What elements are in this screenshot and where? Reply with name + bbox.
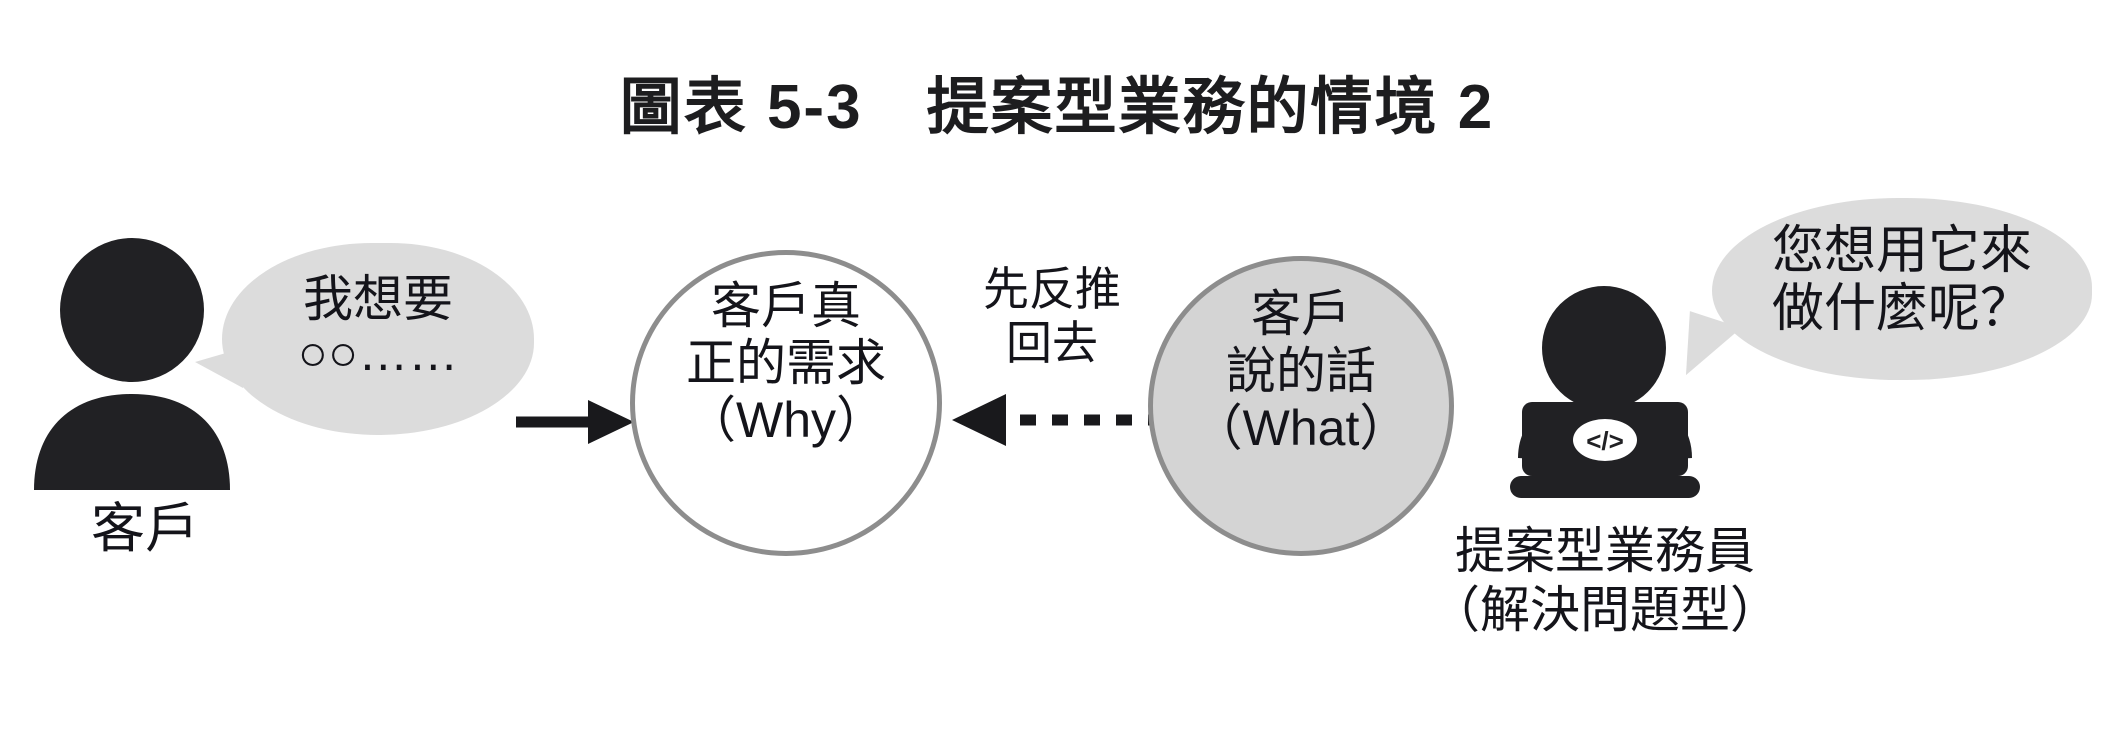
node-why-label: 客戶真 正的需求 （Why）: [630, 278, 942, 449]
diagram-canvas: 圖表 5-3 提案型業務的情境 2 客戶 我想要 ○○…… 客戶真 正的需求 （…: [0, 0, 2114, 752]
node-what-label: 客戶 說的話 （What）: [1148, 286, 1454, 457]
page-title: 圖表 5-3 提案型業務的情境 2: [0, 56, 2114, 146]
salesperson-figure: </>: [1480, 262, 1730, 502]
person-with-laptop-icon: </>: [1480, 262, 1730, 502]
arrow-label-reverse-reasoning: 先反推 回去: [952, 262, 1152, 371]
customer-label: 客戶: [30, 500, 260, 558]
salesperson-speech-text: 您想用它來 做什麼呢？: [1712, 222, 2092, 338]
arrow-customer-to-why: [516, 392, 636, 452]
laptop-code-glyph: </>: [1586, 426, 1624, 456]
customer-speech-text: 我想要 ○○……: [222, 272, 534, 380]
arrow-what-to-why: [948, 390, 1164, 450]
salesperson-label: 提案型業務員 （解決問題型）: [1390, 522, 1820, 640]
